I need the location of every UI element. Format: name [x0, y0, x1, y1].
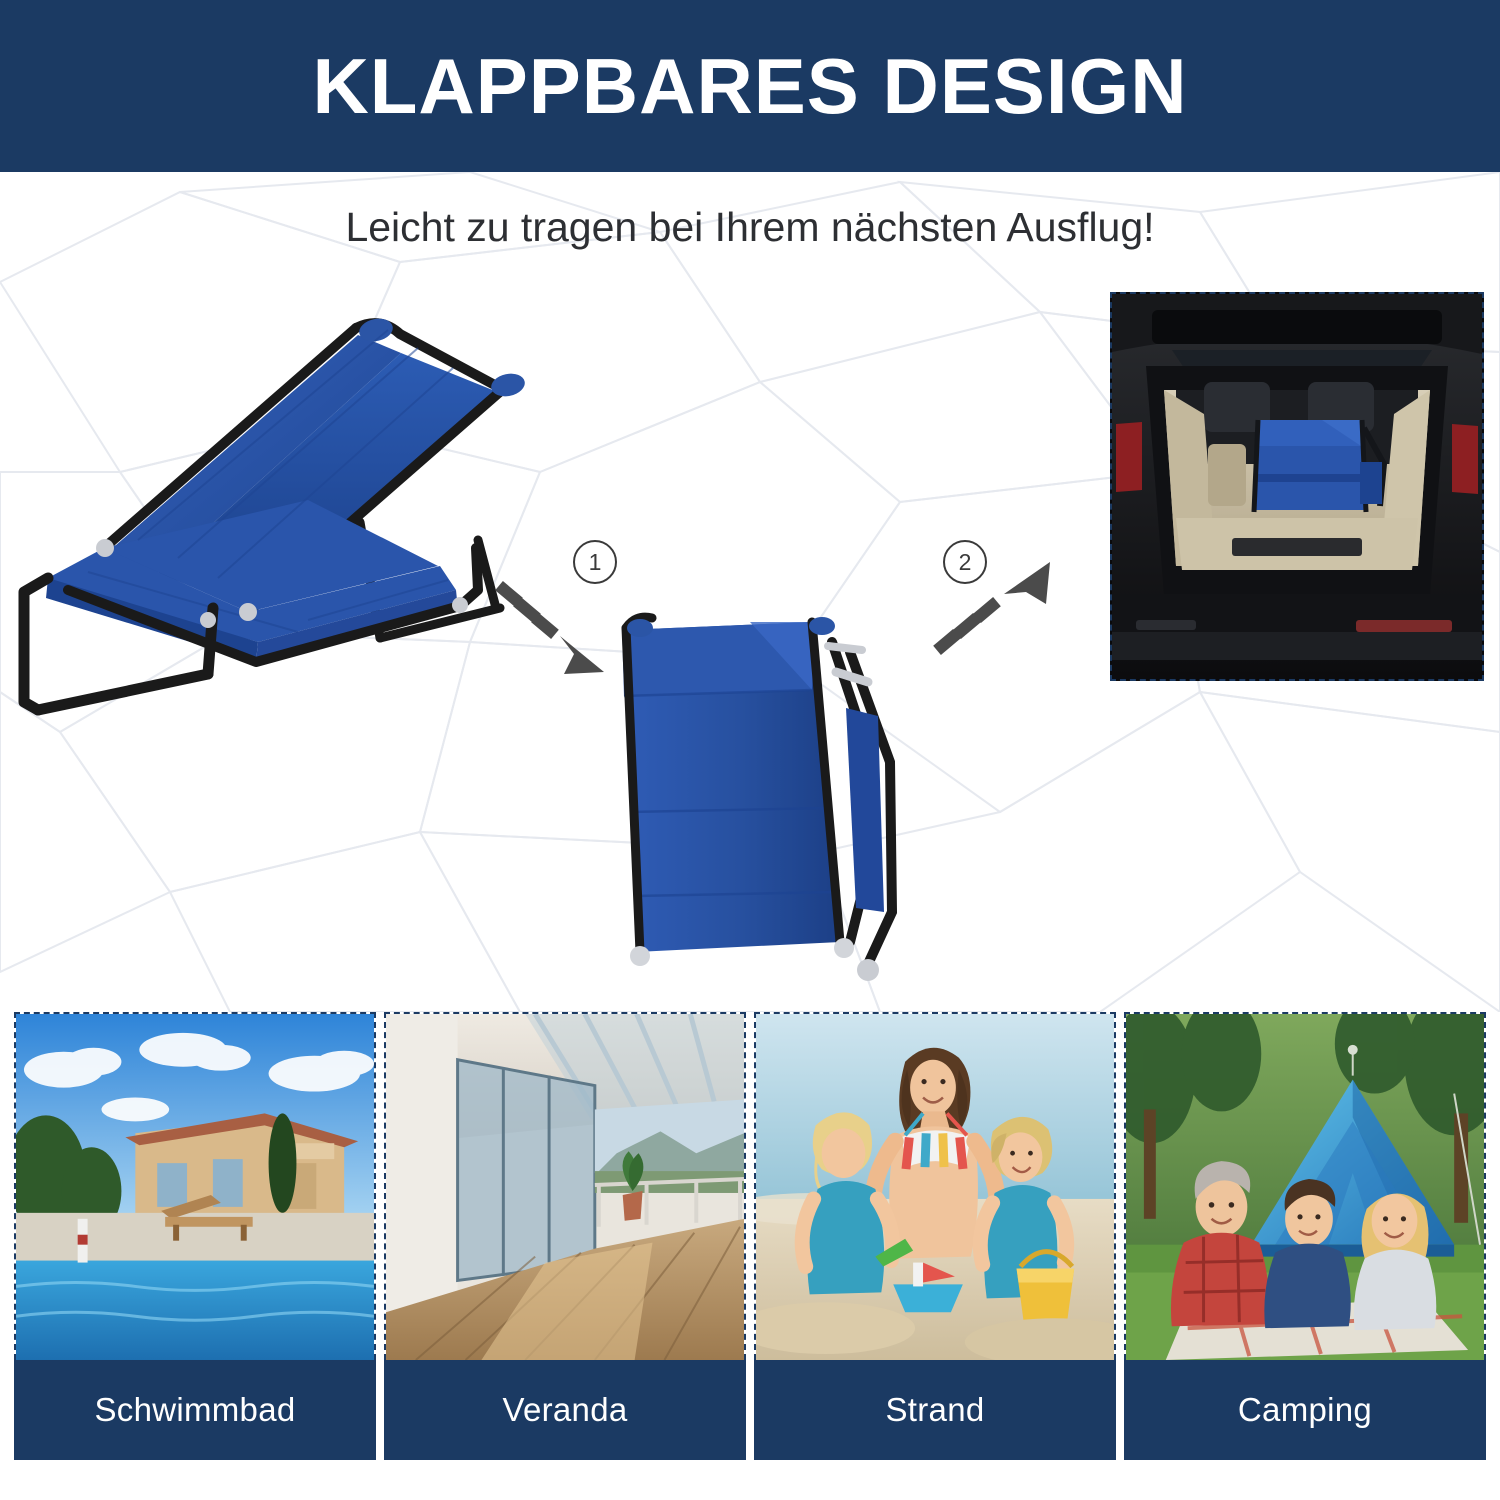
folded-lounger-illustration — [600, 612, 930, 997]
scene-card-pool: Schwimmbad — [14, 1012, 376, 1460]
scene-card-beach: Strand — [754, 1012, 1116, 1460]
product-infographic-page: KLAPPBARES DESIGN Leicht zu tragen bei I… — [0, 0, 1500, 1500]
page-title: KLAPPBARES DESIGN — [312, 47, 1187, 125]
car-trunk-photo — [1110, 292, 1484, 681]
scene-label-beach: Strand — [754, 1360, 1116, 1460]
scene-photo-veranda — [384, 1012, 746, 1360]
scene-label-camping: Camping — [1124, 1360, 1486, 1460]
step-1-badge: 1 — [573, 540, 617, 584]
header-banner: KLAPPBARES DESIGN — [0, 0, 1500, 172]
scene-photo-camping — [1124, 1012, 1486, 1360]
illustration-area: 1 — [0, 282, 1500, 1012]
step-2-badge: 2 — [943, 540, 987, 584]
scene-label-pool: Schwimmbad — [14, 1360, 376, 1460]
step-2-arrow — [920, 552, 1080, 682]
scene-photo-beach — [754, 1012, 1116, 1360]
usage-scenes-row: Schwimmbad — [0, 1012, 1500, 1460]
step-2-label: 2 — [959, 549, 972, 576]
step-1-label: 1 — [589, 549, 602, 576]
scene-card-veranda: Veranda — [384, 1012, 746, 1460]
scene-label-veranda: Veranda — [384, 1360, 746, 1460]
scene-card-camping: Camping — [1124, 1012, 1486, 1460]
subtitle: Leicht zu tragen bei Ihrem nächsten Ausf… — [345, 204, 1154, 251]
subtitle-area: Leicht zu tragen bei Ihrem nächsten Ausf… — [0, 172, 1500, 282]
scene-photo-pool — [14, 1012, 376, 1360]
